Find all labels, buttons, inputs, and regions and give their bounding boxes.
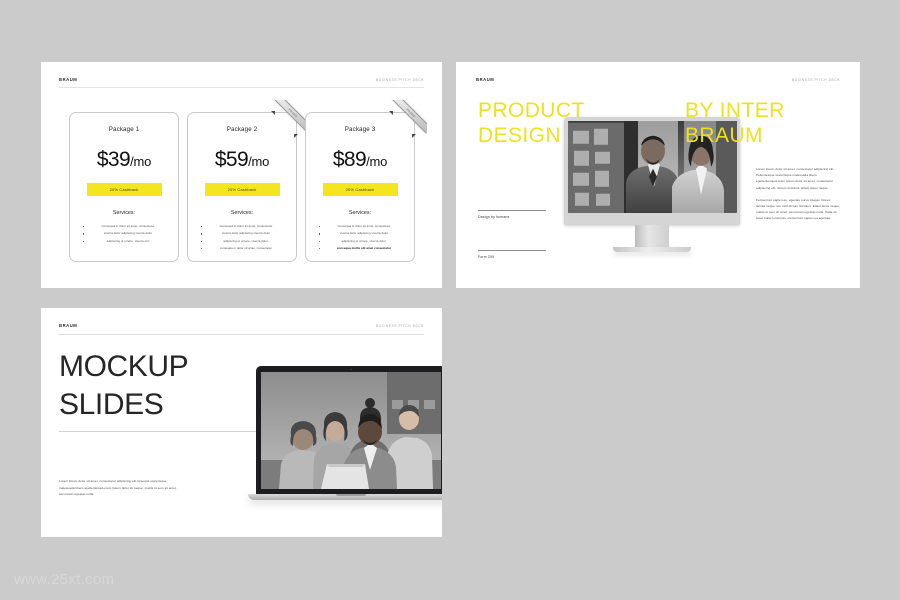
- photo-team-around-laptop: [261, 372, 441, 489]
- ribbon-label: PROMO: [272, 100, 309, 134]
- brand-logo: BRAUM: [59, 77, 77, 82]
- ribbon-tail-left: [271, 111, 275, 115]
- paragraph: Lorem ipsum dolor sit amet, consectetur …: [756, 166, 840, 191]
- imac-stand-neck: [635, 225, 669, 247]
- list-item: consequa in dolor sit amet, consectetur: [197, 247, 287, 254]
- brand-logo: BRAUM: [59, 323, 77, 328]
- package-price: $89/mo: [333, 149, 387, 170]
- paragraph: Fermentum sapien eu, egestas purus integ…: [756, 197, 840, 222]
- package-name: Package 3: [345, 126, 376, 133]
- services-label: Services:: [113, 210, 135, 216]
- pricing-card[interactable]: Package 1 $39/mo 20% Cashback Services: …: [69, 112, 179, 262]
- ribbon-tail-right: [412, 134, 416, 138]
- ribbon-tail-right: [294, 134, 298, 138]
- services-label: Services:: [231, 210, 253, 216]
- slide-product-design[interactable]: BRAUM BUSINESS PITCH DECK PRODUCT DESIGN: [456, 62, 860, 288]
- title-divider: [59, 431, 259, 432]
- services-label: Services:: [349, 210, 371, 216]
- meta-design-by: Design by humans: [478, 210, 546, 219]
- list-item: adipiscing ut ornare, viverra orci: [79, 240, 169, 247]
- ribbon-tail-left: [389, 111, 393, 115]
- meta-design-label: Design by humans: [478, 215, 546, 219]
- screenshot-canvas: BRAUM BUSINESS PITCH DECK Package 1 $39/…: [0, 0, 900, 600]
- cashback-button[interactable]: 20% Cashback: [323, 183, 398, 196]
- slide-mockup[interactable]: BRAUM BUSINESS PITCH DECK MOCKUP SLIDES …: [41, 308, 442, 537]
- slide-mockup-header: BRAUM BUSINESS PITCH DECK: [59, 323, 424, 328]
- webcam-icon: [350, 369, 352, 371]
- imac-stand-foot: [613, 247, 691, 252]
- price-period: /mo: [248, 154, 269, 169]
- meta-form-label: Form 209: [478, 255, 546, 259]
- laptop-trackpad-notch: [336, 494, 366, 496]
- list-item: consequa mollis elit amet consectetur: [315, 247, 405, 254]
- services-list: Consequa in dolor sit amet, consectetur …: [306, 225, 414, 254]
- meta-form: Form 209: [478, 250, 546, 259]
- header-divider: [59, 334, 424, 335]
- pricing-card[interactable]: PROMO Package 2 $59/mo 20% Cashback Serv…: [187, 112, 297, 262]
- page-title-right: BY INTER BRAUM: [685, 98, 785, 148]
- services-list: Consequa in dolor sit amet, consectetur …: [70, 225, 178, 247]
- services-list: Consequa in dolor sit amet, consectetur …: [188, 225, 296, 254]
- laptop-lid: [256, 366, 442, 494]
- laptop-mockup: [256, 366, 442, 500]
- price-amount: $89: [333, 148, 366, 171]
- package-price: $59/mo: [215, 149, 269, 170]
- package-price: $39/mo: [97, 149, 151, 170]
- promo-ribbon: PROMO: [389, 100, 427, 138]
- slide-pricing-header: BRAUM BUSINESS PITCH DECK: [59, 77, 424, 82]
- page-title: MOCKUP SLIDES: [59, 348, 188, 424]
- deck-tag: BUSINESS PITCH DECK: [376, 78, 424, 82]
- ribbon-label: PROMO: [390, 100, 427, 134]
- slide-pricing[interactable]: BRAUM BUSINESS PITCH DECK Package 1 $39/…: [41, 62, 442, 288]
- price-period: /mo: [366, 154, 387, 169]
- laptop-base: [248, 494, 442, 500]
- price-period: /mo: [130, 154, 151, 169]
- pricing-card-list: Package 1 $39/mo 20% Cashback Services: …: [69, 112, 415, 262]
- meta-divider: [478, 250, 546, 251]
- cashback-button[interactable]: 20% Cashback: [205, 183, 280, 196]
- brand-logo: BRAUM: [476, 77, 494, 82]
- price-amount: $59: [215, 148, 248, 171]
- promo-ribbon: PROMO: [271, 100, 309, 138]
- cashback-button[interactable]: 20% Cashback: [87, 183, 162, 196]
- meta-divider: [478, 210, 546, 211]
- price-amount: $39: [97, 148, 130, 171]
- package-name: Package 1: [109, 126, 140, 133]
- watermark: www.25xt.com: [14, 571, 114, 588]
- header-divider: [59, 87, 424, 88]
- deck-tag: BUSINESS PITCH DECK: [792, 78, 840, 82]
- product-body-copy: Lorem ipsum dolor sit amet, consectetur …: [756, 166, 840, 222]
- slide-product-header: BRAUM BUSINESS PITCH DECK: [476, 77, 840, 82]
- pricing-card[interactable]: PROMO Package 3 $89/mo 20% Cashback Serv…: [305, 112, 415, 262]
- mockup-body-copy: Lorem ipsum dolor sit amet, consectetur …: [59, 478, 177, 498]
- deck-tag: BUSINESS PITCH DECK: [376, 324, 424, 328]
- package-name: Package 2: [227, 126, 258, 133]
